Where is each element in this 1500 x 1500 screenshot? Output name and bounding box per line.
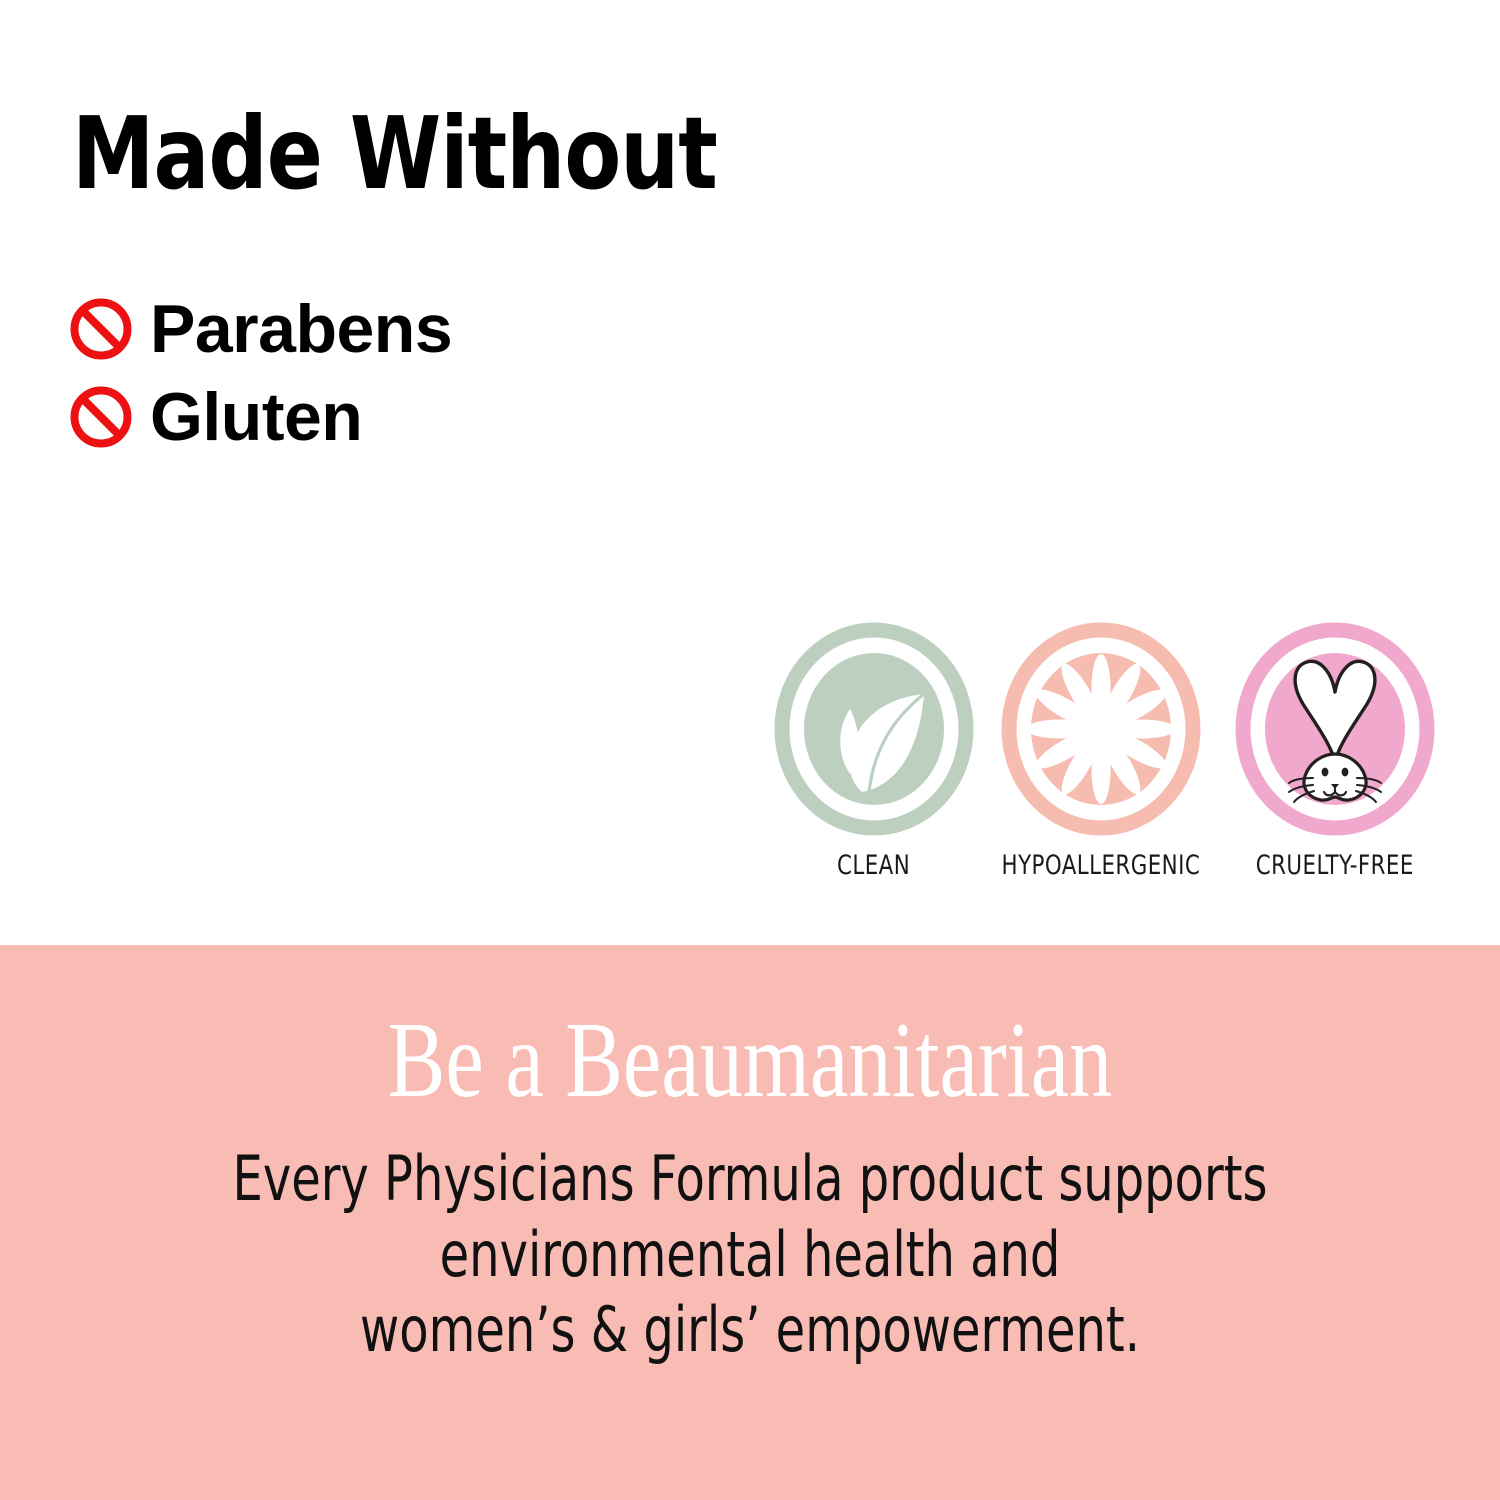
page-title: Made Without [72, 104, 717, 204]
list-item: Parabens [70, 285, 870, 373]
body-line: women’s & girls’ empowerment. [105, 1292, 1395, 1368]
beaumanitarian-section: Be a Beaumanitarian Every Physicians For… [0, 945, 1500, 1500]
badge-cruelty-free: CRUELTY-FREE [1224, 622, 1446, 881]
badge-hypoallergenic: HYPOALLERGENIC [986, 622, 1216, 881]
beaumanitarian-body: Every Physicians Formula product support… [105, 1115, 1395, 1368]
prohibition-icon [70, 386, 132, 448]
badge-clean: CLEAN [768, 622, 980, 881]
badge-caption-hypoallergenic: HYPOALLERGENIC [1002, 850, 1201, 881]
bunny-heart-ears-icon [1235, 622, 1435, 836]
list-item: Gluten [70, 373, 870, 461]
badge-caption-cruelty-free: CRUELTY-FREE [1256, 850, 1414, 881]
leaves-icon [774, 622, 974, 836]
body-line: Every Physicians Formula product support… [105, 1141, 1395, 1217]
prohibition-icon [70, 298, 132, 360]
made-without-section: Made Without Parabens Gluten [0, 0, 1500, 945]
daisy-flower-icon [1001, 622, 1201, 836]
certification-badge-row: CLEAN [768, 622, 1458, 881]
badge-caption-clean: CLEAN [837, 850, 910, 881]
body-line: environmental health and [105, 1217, 1395, 1293]
beaumanitarian-title: Be a Beaumanitarian [150, 945, 1350, 1115]
list-item-label: Parabens [150, 295, 452, 363]
free-from-list: Parabens Gluten [70, 285, 870, 461]
list-item-label: Gluten [150, 383, 362, 451]
